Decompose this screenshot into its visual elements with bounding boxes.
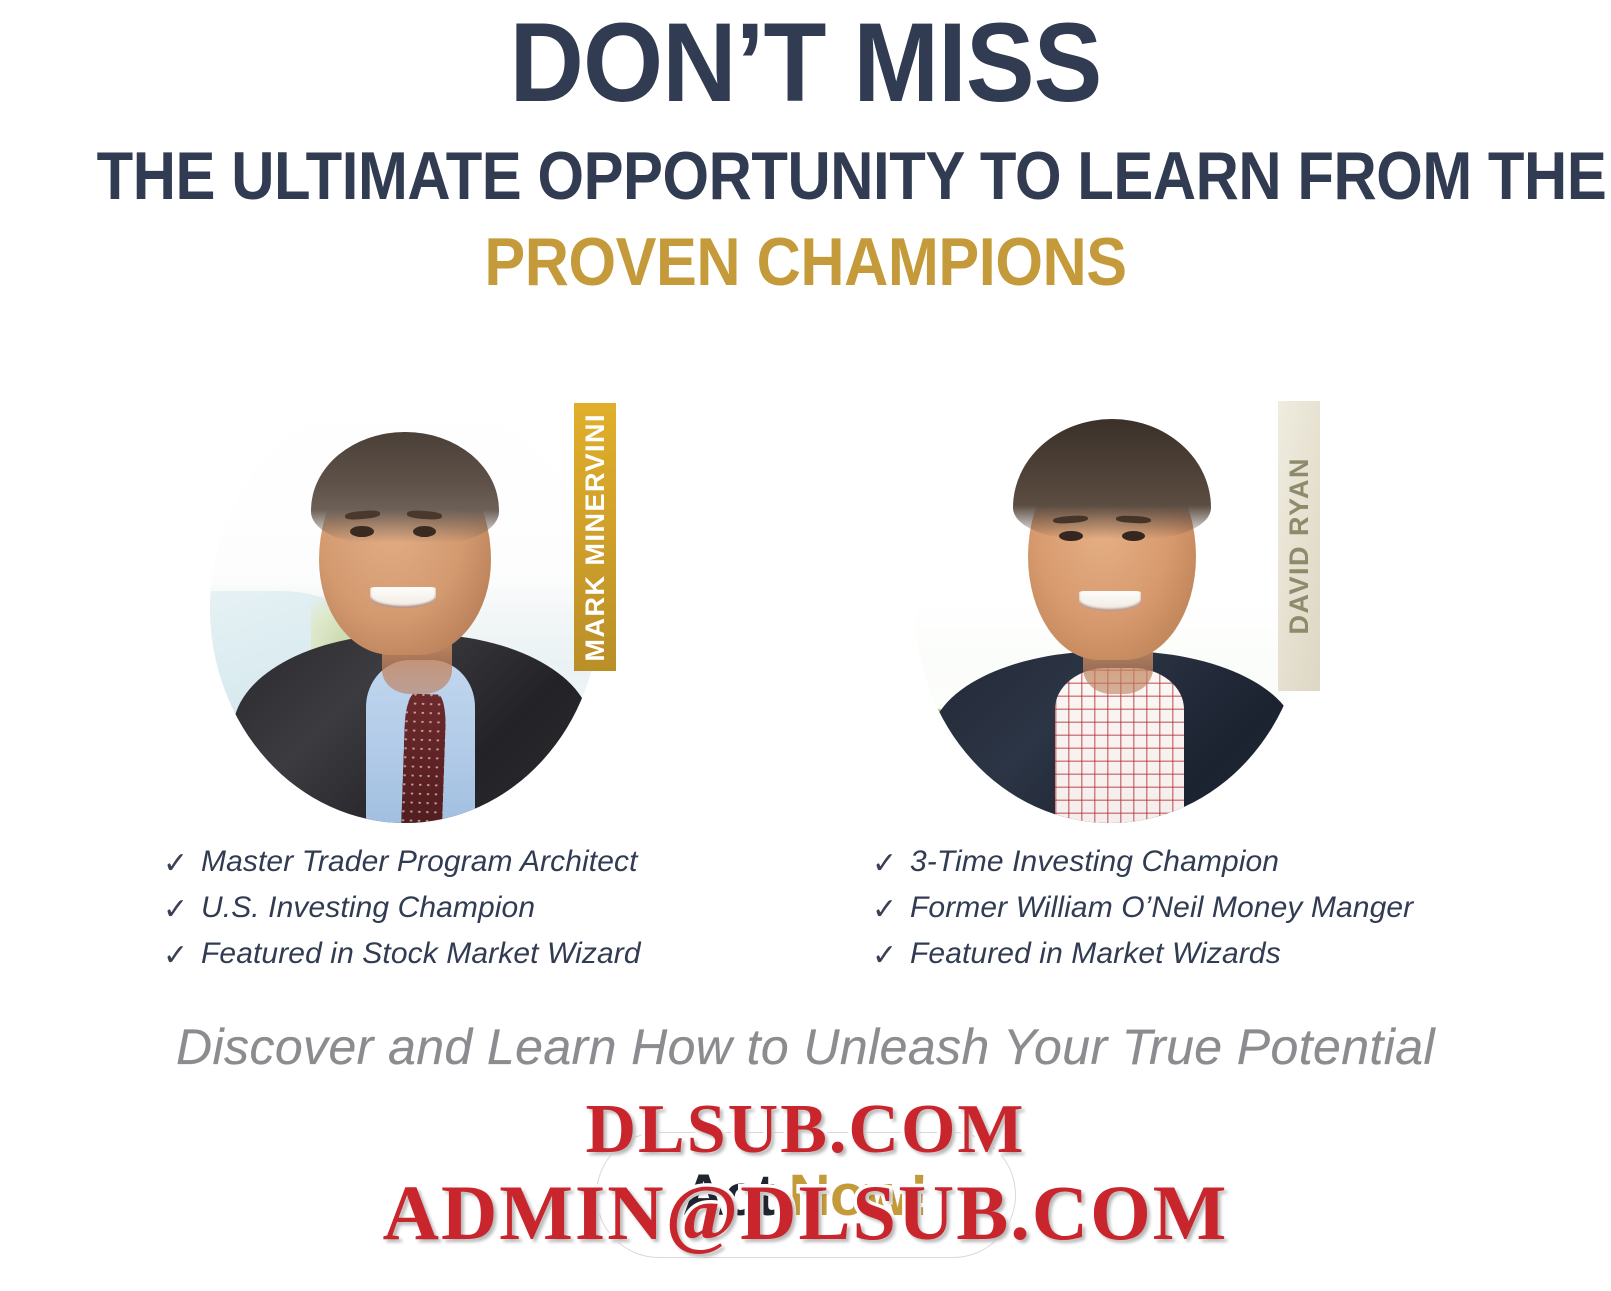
portrait-photo-mark-minervini <box>210 393 600 823</box>
credentials-list-david-ryan: ✓ 3-Time Investing Champion ✓ Former Wil… <box>872 845 1413 983</box>
list-item: ✓ U.S. Investing Champion <box>163 891 641 937</box>
list-item-label: 3-Time Investing Champion <box>910 845 1279 879</box>
watermark-email: ADMIN@DLSUB.COM <box>383 1168 1229 1258</box>
watermark-site: DLSUB.COM <box>586 1090 1026 1170</box>
name-banner-mark-minervini: MARK MINERVINI <box>574 403 616 671</box>
portrait-photo-david-ryan <box>915 393 1305 823</box>
tagline: Discover and Learn How to Unleash Your T… <box>0 1018 1611 1076</box>
speaker-card-david-ryan: DAVID RYAN <box>895 385 1325 835</box>
list-item-label: U.S. Investing Champion <box>201 891 535 925</box>
check-icon: ✓ <box>872 941 902 971</box>
check-icon: ✓ <box>163 895 193 925</box>
headline-block: DON’T MISS THE ULTIMATE OPPORTUNITY TO L… <box>0 0 1611 301</box>
list-item-label: Former William O’Neil Money Manger <box>910 891 1413 925</box>
check-icon: ✓ <box>872 895 902 925</box>
list-item-label: Master Trader Program Architect <box>201 845 638 879</box>
headline-line-3: PROVEN CHAMPIONS <box>81 224 1531 300</box>
check-icon: ✓ <box>163 941 193 971</box>
name-banner-label: MARK MINERVINI <box>580 413 611 662</box>
list-item: ✓ Former William O’Neil Money Manger <box>872 891 1413 937</box>
list-item: ✓ 3-Time Investing Champion <box>872 845 1413 891</box>
credentials-list-mark-minervini: ✓ Master Trader Program Architect ✓ U.S.… <box>163 845 641 983</box>
name-banner-david-ryan: DAVID RYAN <box>1278 401 1320 691</box>
list-item: ✓ Master Trader Program Architect <box>163 845 641 891</box>
portrait-image <box>210 393 600 823</box>
check-icon: ✓ <box>163 849 193 879</box>
headline-line-1: DON’T MISS <box>64 6 1546 120</box>
speakers-row: MARK MINERVINI DAVID RYAN <box>0 385 1611 845</box>
headline-line-2: THE ULTIMATE OPPORTUNITY TO LEARN FROM T… <box>97 138 1515 214</box>
list-item: ✓ Featured in Market Wizards <box>872 937 1413 983</box>
portrait-image <box>915 393 1305 823</box>
speaker-card-mark-minervini: MARK MINERVINI <box>190 385 620 835</box>
list-item-label: Featured in Stock Market Wizard <box>201 937 641 971</box>
list-item: ✓ Featured in Stock Market Wizard <box>163 937 641 983</box>
speaker-credentials: ✓ Master Trader Program Architect ✓ U.S.… <box>0 845 1611 980</box>
check-icon: ✓ <box>872 849 902 879</box>
name-banner-label: DAVID RYAN <box>1284 457 1315 635</box>
list-item-label: Featured in Market Wizards <box>910 937 1281 971</box>
